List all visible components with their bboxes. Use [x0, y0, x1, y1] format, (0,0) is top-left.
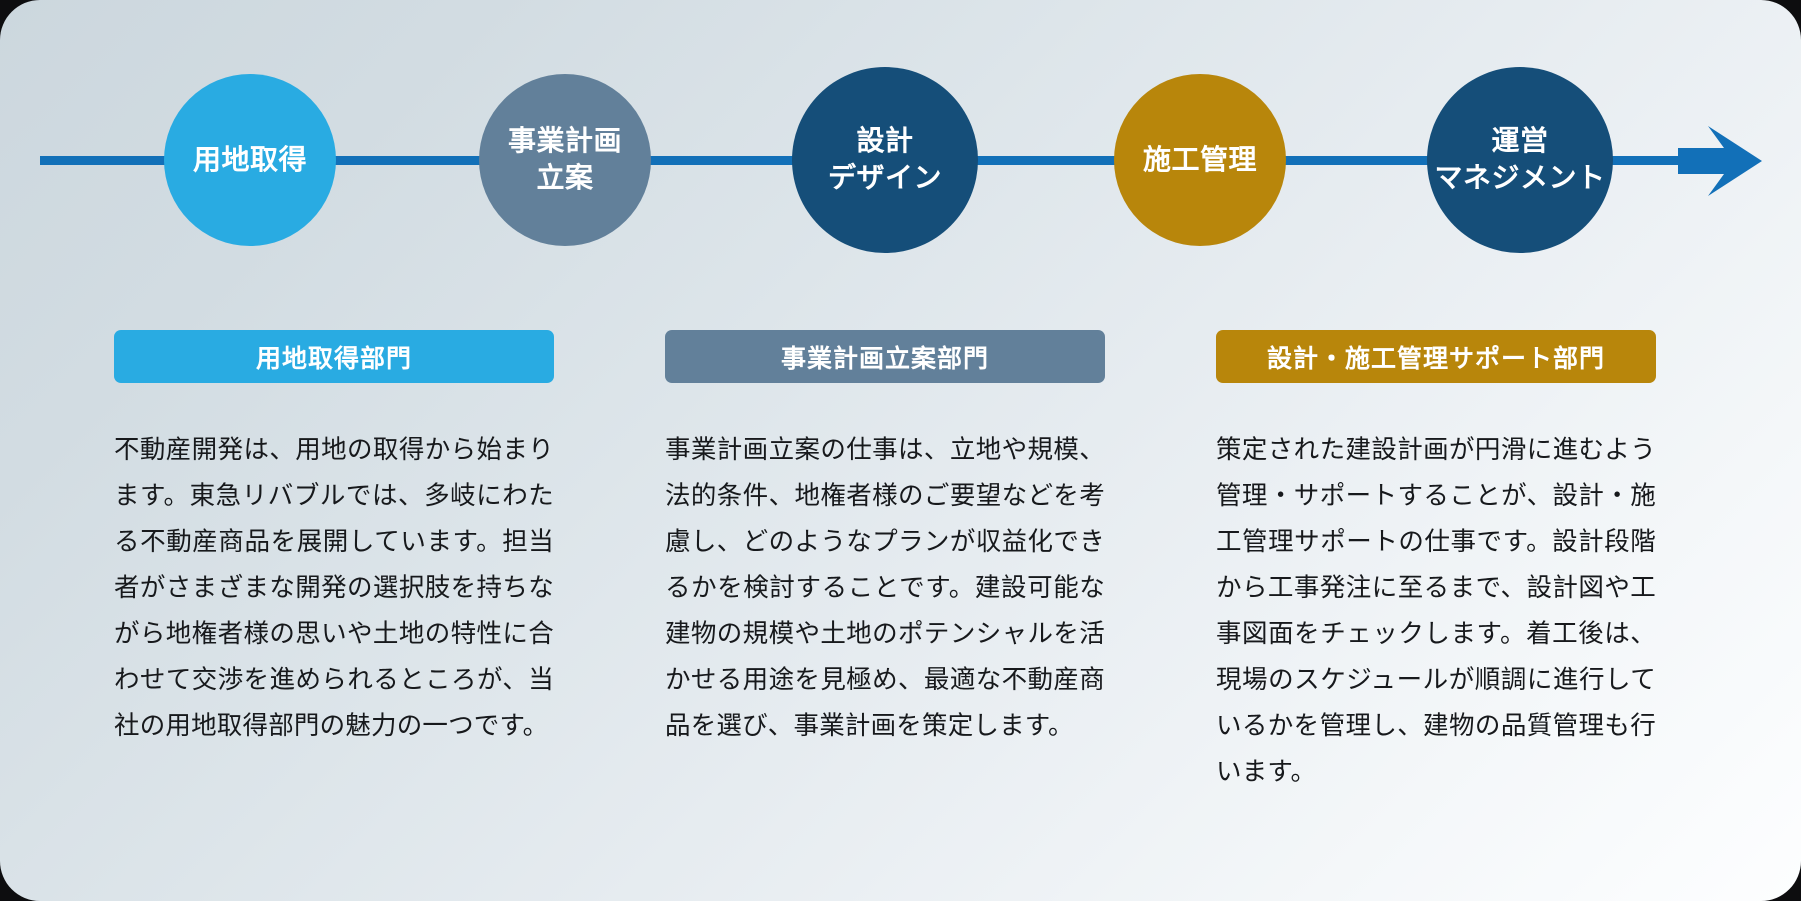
flow-line-segment [974, 156, 1118, 165]
department-body-text: 事業計画立案の仕事は、立地や規模、法的条件、地権者様のご要望などを考慮し、どのよ… [665, 427, 1105, 749]
department-column-3: 設計・施工管理サポート部門策定された建設計画が円滑に進むよう管理・サポートするこ… [1216, 330, 1656, 821]
flow-line-segment [1282, 156, 1431, 165]
flow-node-1[interactable]: 用地取得 [164, 74, 336, 246]
flow-line-segment [332, 156, 483, 165]
department-title-bar[interactable]: 設計・施工管理サポート部門 [1216, 330, 1656, 383]
right-arrow-icon [1678, 126, 1762, 196]
department-body-text: 不動産開発は、用地の取得から始まります。東急リバブルでは、多岐にわたる不動産商品… [114, 427, 554, 749]
department-title-bar[interactable]: 事業計画立案部門 [665, 330, 1105, 383]
department-title-text: 設計・施工管理サポート部門 [1267, 339, 1605, 375]
infographic-root: 用地取得事業計画 立案設計 デザイン施工管理運営 マネジメント 用地取得部門不動… [0, 0, 1801, 901]
department-column-2: 事業計画立案部門事業計画立案の仕事は、立地や規模、法的条件、地権者様のご要望など… [665, 330, 1105, 775]
department-column-1: 用地取得部門不動産開発は、用地の取得から始まります。東急リバブルでは、多岐にわた… [114, 330, 554, 775]
department-title-text: 事業計画立案部門 [781, 339, 989, 375]
department-body-text: 策定された建設計画が円滑に進むよう管理・サポートすることが、設計・施工管理サポー… [1216, 427, 1656, 795]
flow-node-label: 用地取得 [193, 142, 307, 179]
department-title-bar[interactable]: 用地取得部門 [114, 330, 554, 383]
flow-node-4[interactable]: 施工管理 [1114, 74, 1286, 246]
flow-line-segment [647, 156, 796, 165]
department-columns: 用地取得部門不動産開発は、用地の取得から始まります。東急リバブルでは、多岐にわた… [0, 330, 1801, 901]
flow-node-label: 設計 デザイン [828, 123, 942, 197]
flow-node-label: 事業計画 立案 [508, 123, 622, 197]
flow-node-label: 施工管理 [1143, 142, 1257, 179]
flow-node-5[interactable]: 運営 マネジメント [1427, 67, 1613, 253]
flow-node-2[interactable]: 事業計画 立案 [479, 74, 651, 246]
flow-line-segment [40, 156, 168, 165]
process-flow-diagram: 用地取得事業計画 立案設計 デザイン施工管理運営 マネジメント [0, 0, 1801, 300]
flow-node-3[interactable]: 設計 デザイン [792, 67, 978, 253]
flow-node-label: 運営 マネジメント [1434, 123, 1605, 197]
department-title-text: 用地取得部門 [256, 339, 412, 375]
